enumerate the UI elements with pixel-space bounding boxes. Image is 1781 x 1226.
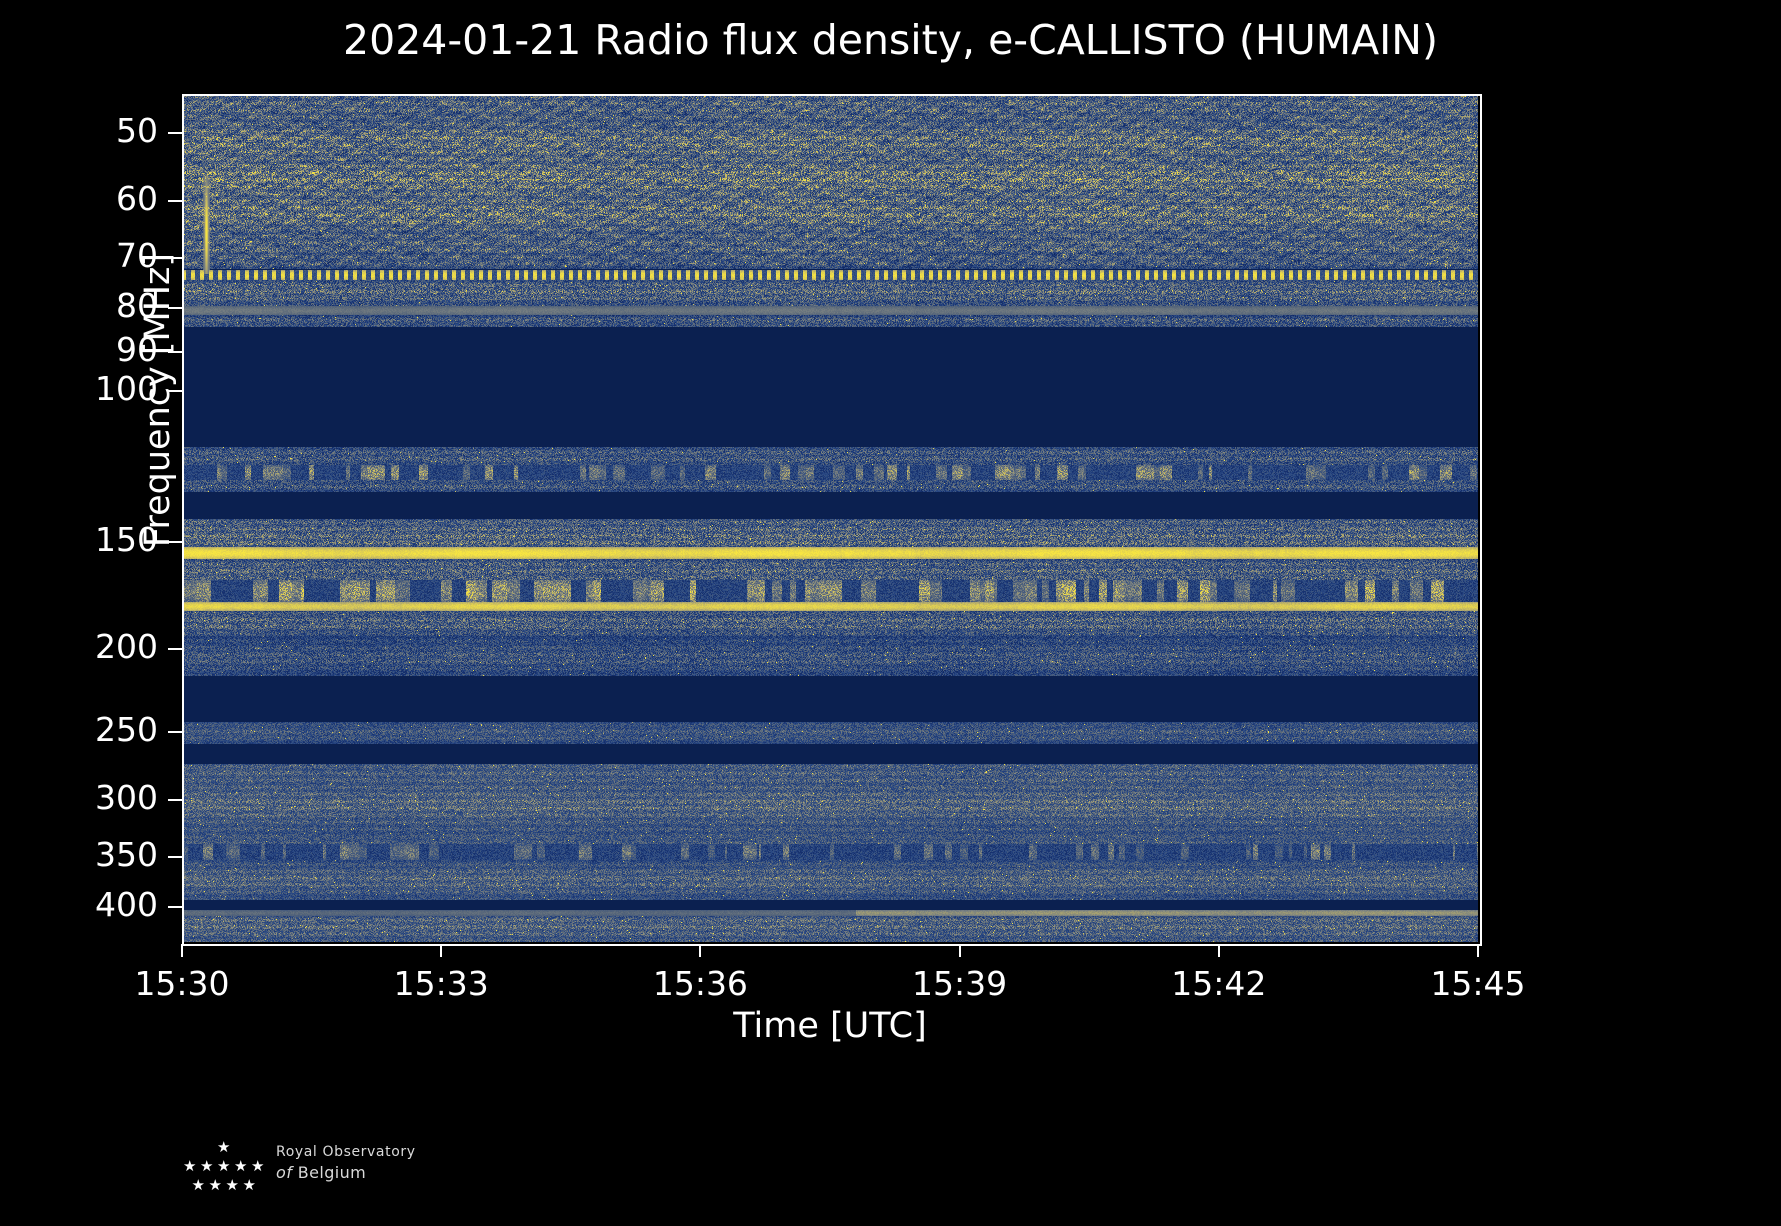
y-tick-label: 200 <box>0 627 158 666</box>
y-tick-label: 50 <box>0 111 158 150</box>
x-axis-label: Time [UTC] <box>182 1006 1478 1046</box>
y-tick-label: 250 <box>0 710 158 749</box>
star-icon: ★ <box>251 1159 264 1174</box>
x-tick-label: 15:30 <box>72 964 292 1003</box>
y-tick-label: 70 <box>0 236 158 275</box>
y-tick-mark <box>168 906 182 908</box>
stars-icon: ★★★★★★★★★★ <box>176 1140 272 1198</box>
x-tick-mark <box>181 944 183 957</box>
logo-text: Royal Observatory of Belgium <box>276 1144 436 1182</box>
x-tick-mark <box>699 944 701 957</box>
logo-line-1: Royal Observatory <box>276 1144 436 1160</box>
x-tick-label: 15:33 <box>331 964 551 1003</box>
logo-country: Belgium <box>298 1163 366 1182</box>
star-icon: ★ <box>183 1159 196 1174</box>
y-tick-mark <box>168 648 182 650</box>
star-icon: ★ <box>200 1159 213 1174</box>
x-tick-label: 15:36 <box>590 964 810 1003</box>
y-tick-mark <box>168 731 182 733</box>
spectrogram-canvas <box>182 94 1478 942</box>
y-tick-label: 60 <box>0 179 158 218</box>
x-tick-mark <box>440 944 442 957</box>
x-tick-mark <box>959 944 961 957</box>
y-tick-label: 80 <box>0 286 158 325</box>
y-tick-label: 150 <box>0 520 158 559</box>
star-icon: ★ <box>234 1159 247 1174</box>
y-tick-label: 300 <box>0 778 158 817</box>
x-tick-label: 15:45 <box>1368 964 1588 1003</box>
royal-observatory-logo: ★★★★★★★★★★ Royal Observatory of Belgium <box>176 1140 436 1210</box>
star-icon: ★ <box>217 1140 230 1155</box>
star-icon: ★ <box>217 1159 230 1174</box>
y-tick-label: 400 <box>0 885 158 924</box>
logo-of-word: of <box>276 1163 292 1182</box>
star-icon: ★ <box>226 1178 239 1193</box>
star-icon: ★ <box>209 1178 222 1193</box>
y-tick-mark <box>168 200 182 202</box>
y-tick-label: 100 <box>0 369 158 408</box>
x-tick-label: 15:39 <box>850 964 1070 1003</box>
y-tick-mark <box>168 799 182 801</box>
x-tick-mark <box>1218 944 1220 957</box>
page-title: 2024-01-21 Radio flux density, e-CALLIST… <box>0 16 1781 64</box>
y-tick-label: 350 <box>0 835 158 874</box>
star-icon: ★ <box>243 1178 256 1193</box>
figure-root: 2024-01-21 Radio flux density, e-CALLIST… <box>0 0 1781 1226</box>
x-tick-label: 15:42 <box>1109 964 1329 1003</box>
y-tick-mark <box>168 132 182 134</box>
x-tick-mark <box>1477 944 1479 957</box>
y-tick-label: 90 <box>0 330 158 369</box>
logo-line-2: of Belgium <box>276 1163 436 1182</box>
y-axis-label: Frequency [MHz] <box>138 220 178 580</box>
star-icon: ★ <box>192 1178 205 1193</box>
y-tick-mark <box>168 856 182 858</box>
